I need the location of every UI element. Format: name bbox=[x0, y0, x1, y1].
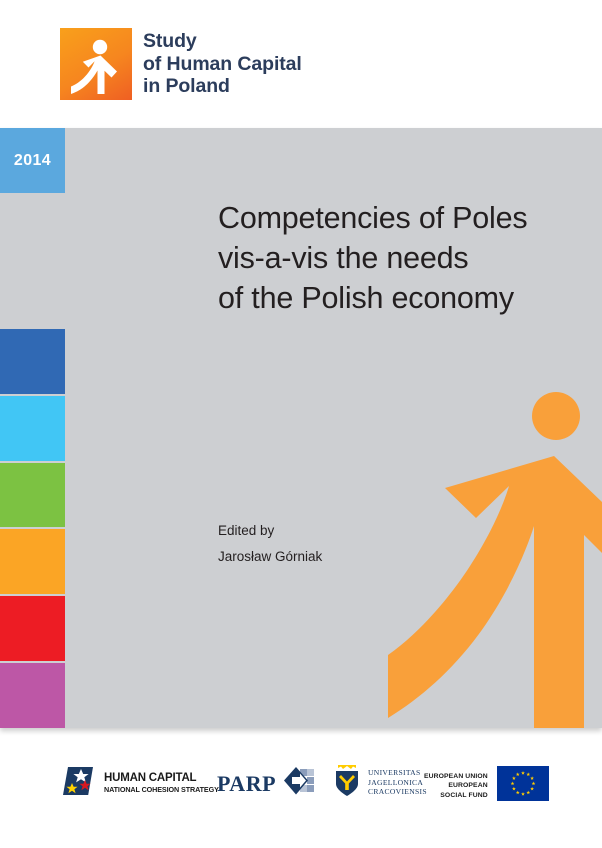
footer-logo-strip: HUMAN CAPITAL NATIONAL COHESION STRATEGY… bbox=[0, 748, 602, 828]
title-line-3: of the Polish economy bbox=[218, 278, 588, 318]
mosaic-tile bbox=[67, 128, 131, 193]
brand-header: Study of Human Capital in Poland bbox=[0, 0, 602, 128]
mosaic-tile bbox=[133, 596, 199, 661]
editor-name: Jarosław Górniak bbox=[218, 544, 322, 570]
mosaic-tile bbox=[67, 596, 131, 661]
cover-panel: 2014 Competencies of Poles vis-a-vis the… bbox=[0, 128, 602, 728]
logo-european-union: EUROPEAN UNION EUROPEAN SOCIAL FUND bbox=[424, 766, 549, 806]
person-arrow-icon bbox=[60, 28, 132, 100]
eu-text: EUROPEAN UNION EUROPEAN SOCIAL FUND bbox=[424, 772, 488, 801]
mosaic-color-dark-blue bbox=[0, 329, 65, 394]
mosaic-color-orange bbox=[0, 529, 65, 594]
brand-line-3: in Poland bbox=[143, 75, 230, 97]
parp-diamond-icon bbox=[283, 766, 315, 801]
mosaic-color-cyan bbox=[0, 396, 65, 461]
mosaic-color-red bbox=[0, 596, 65, 661]
eu-flag-icon bbox=[497, 766, 549, 806]
parp-wordmark: PARP bbox=[217, 771, 276, 797]
brand-line-1: Study bbox=[143, 30, 197, 52]
mosaic-tile-merged bbox=[67, 329, 199, 527]
mosaic-tile bbox=[133, 262, 199, 327]
uj-line-2: JAGELLONICA bbox=[368, 778, 427, 788]
jagiellonian-crest-icon bbox=[332, 762, 362, 803]
mosaic-tile bbox=[133, 529, 199, 594]
logo-parp: PARP bbox=[217, 766, 315, 801]
year-badge: 2014 bbox=[0, 128, 65, 193]
year-label: 2014 bbox=[14, 152, 51, 170]
mosaic-tile bbox=[0, 262, 65, 327]
jagiellonian-text: UNIVERSITAS JAGELLONICA CRACOVIENSIS bbox=[368, 768, 427, 797]
mosaic-tile bbox=[133, 128, 199, 193]
page-title: Competencies of Poles vis-a-vis the need… bbox=[218, 198, 588, 318]
brand-line-2: of Human Capital bbox=[143, 53, 302, 75]
title-line-2: vis-a-vis the needs bbox=[218, 238, 588, 278]
mosaic-color-green bbox=[0, 463, 65, 527]
title-line-1: Competencies of Poles bbox=[218, 198, 588, 238]
eu-line-2: EUROPEAN bbox=[424, 781, 488, 791]
logo-human-capital: HUMAN CAPITAL NATIONAL COHESION STRATEGY bbox=[60, 764, 219, 803]
logo-jagiellonian-university: UNIVERSITAS JAGELLONICA CRACOVIENSIS bbox=[332, 762, 427, 803]
uj-line-3: CRACOVIENSIS bbox=[368, 787, 427, 797]
brand-title: Study of Human Capital in Poland bbox=[143, 30, 302, 98]
editor-label: Edited by bbox=[218, 518, 322, 544]
mosaic-tile bbox=[0, 195, 65, 260]
human-capital-subtitle: NATIONAL COHESION STRATEGY bbox=[104, 785, 219, 795]
human-capital-title: HUMAN CAPITAL bbox=[104, 772, 219, 785]
uj-line-1: UNIVERSITAS bbox=[368, 768, 427, 778]
mosaic-tile bbox=[67, 529, 131, 594]
human-capital-stars-icon bbox=[60, 764, 96, 803]
mosaic-tile bbox=[67, 195, 131, 260]
mosaic-color-magenta bbox=[0, 663, 65, 728]
mosaic-tile bbox=[133, 663, 199, 728]
eu-line-1: EUROPEAN UNION bbox=[424, 772, 488, 782]
editor-credit: Edited by Jarosław Górniak bbox=[218, 518, 322, 570]
mosaic-tile bbox=[67, 663, 131, 728]
mosaic-tile bbox=[67, 262, 131, 327]
mosaic-tile bbox=[133, 195, 199, 260]
human-capital-text: HUMAN CAPITAL NATIONAL COHESION STRATEGY bbox=[104, 772, 219, 795]
eu-line-3: SOCIAL FUND bbox=[424, 791, 488, 801]
